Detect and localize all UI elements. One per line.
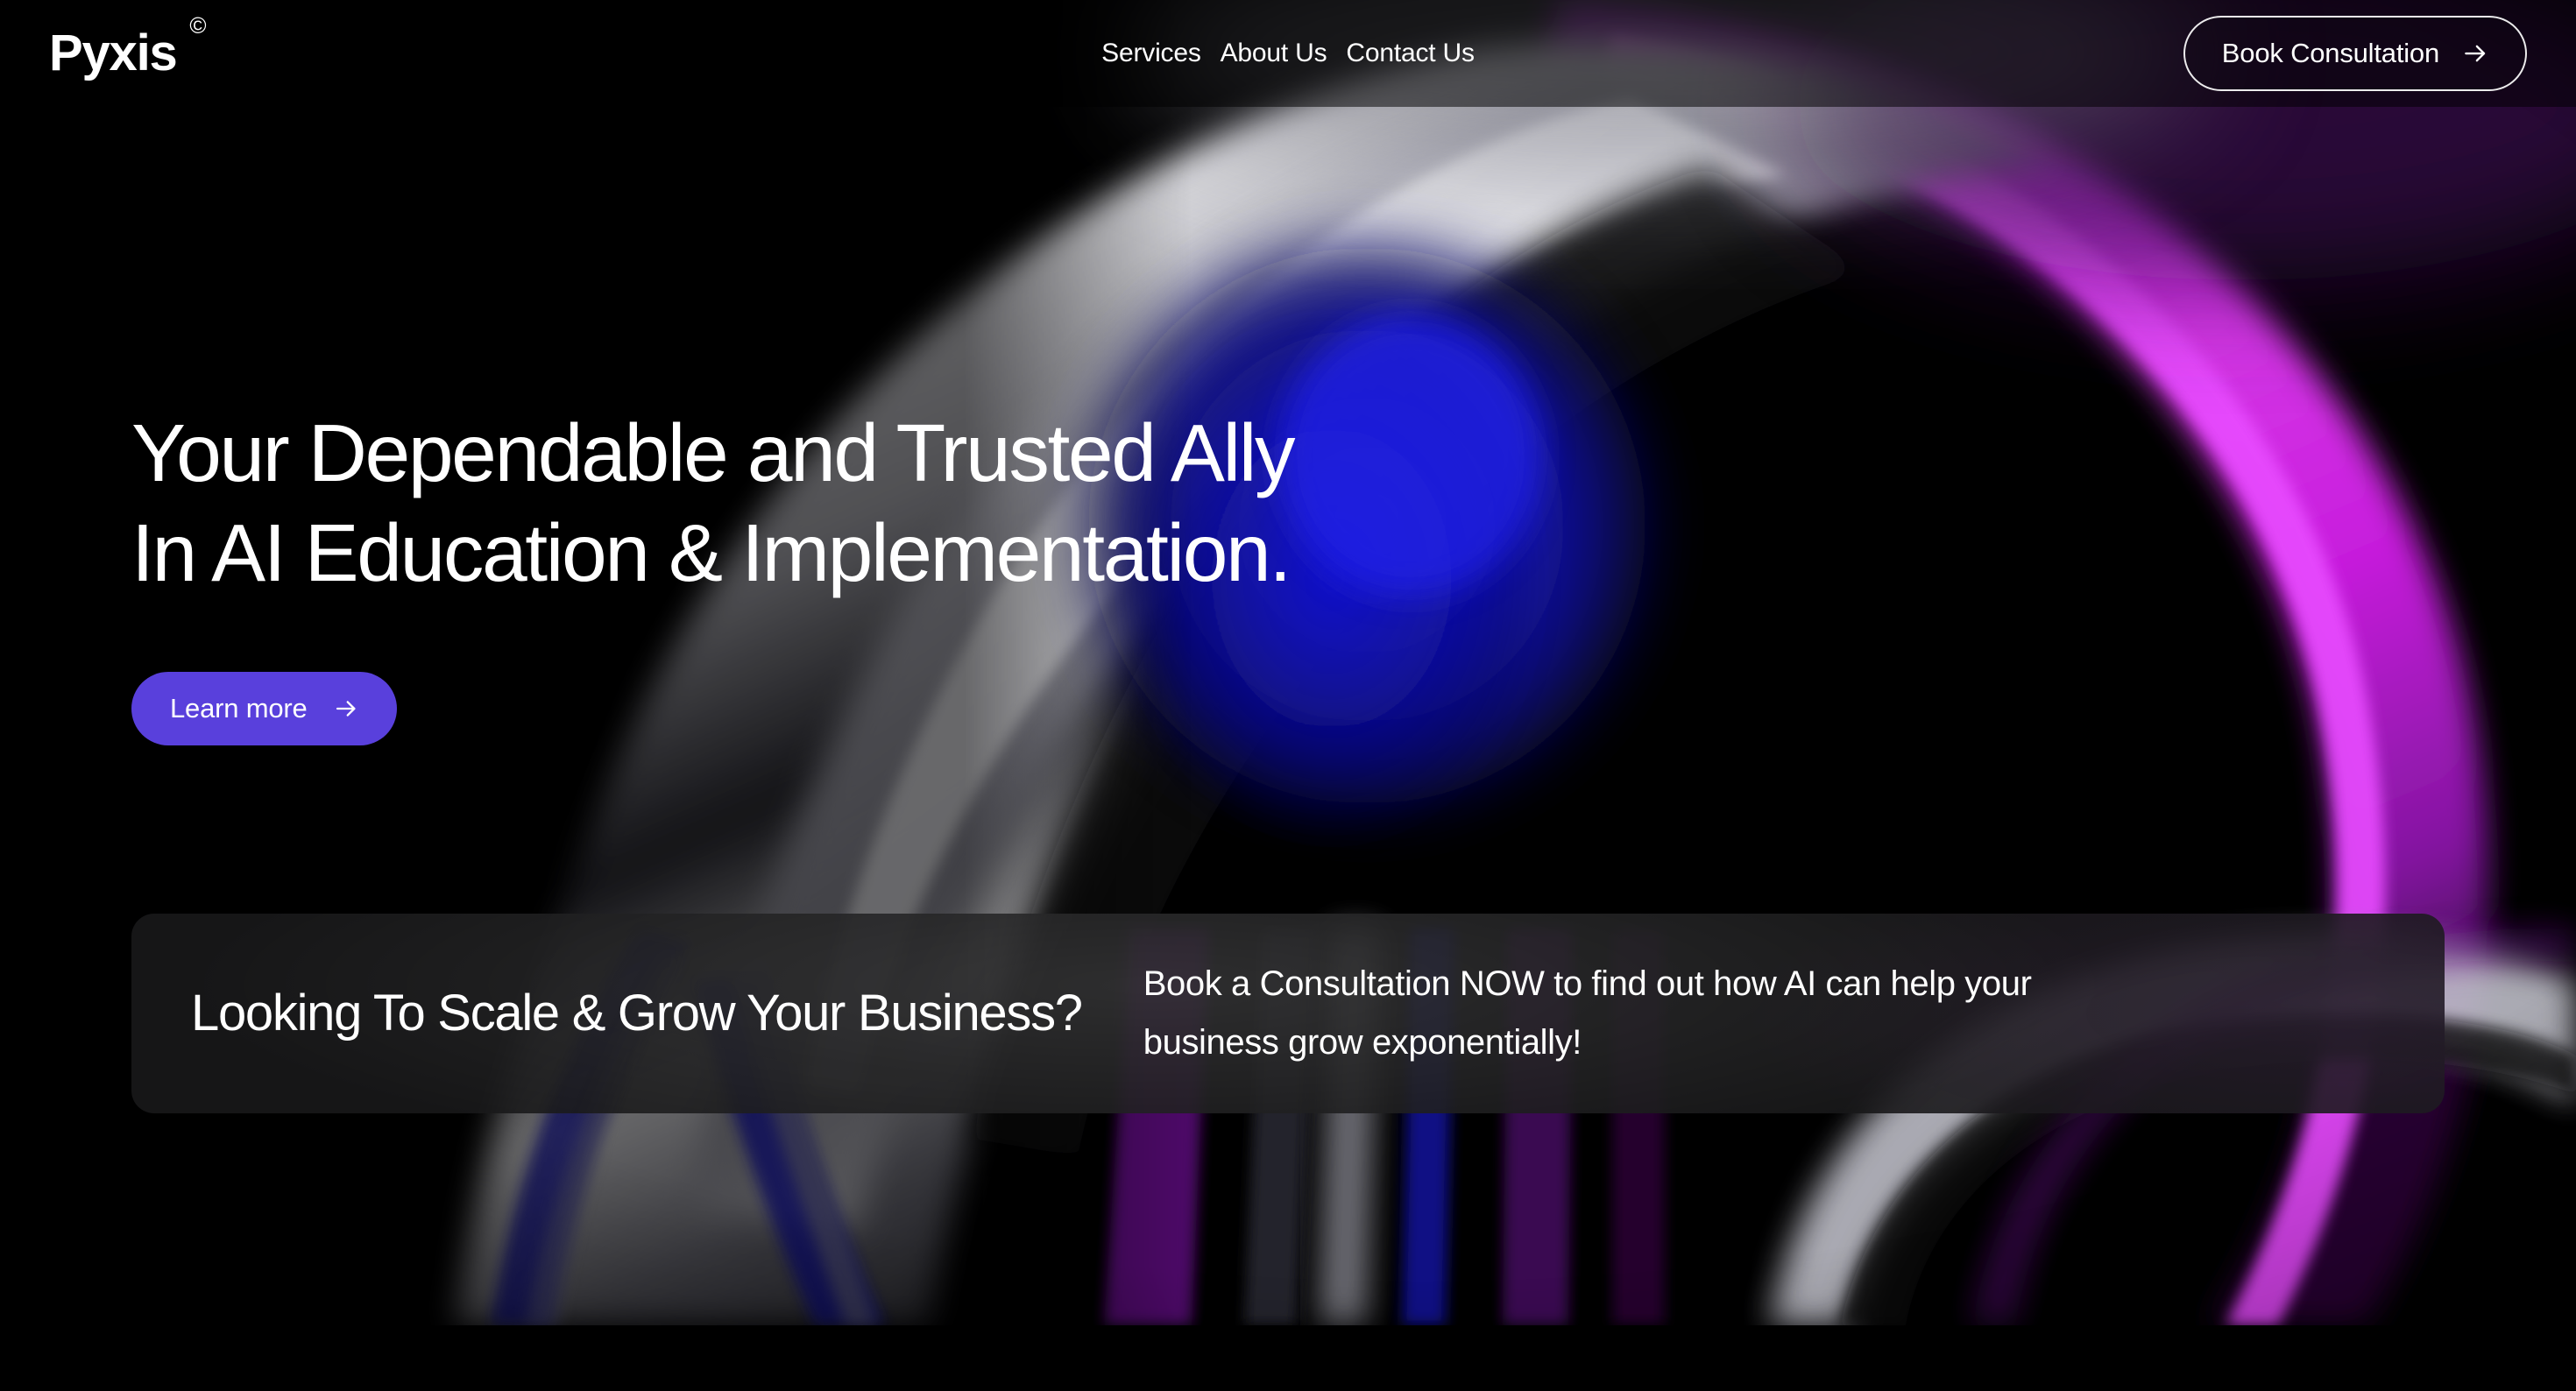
book-consultation-label: Book Consultation [2222, 38, 2439, 69]
arrow-right-icon [334, 696, 358, 721]
arrow-right-icon [2462, 40, 2488, 67]
cta-card: Looking To Scale & Grow Your Business? B… [131, 914, 2445, 1113]
copyright-icon: © [189, 14, 206, 37]
learn-more-label: Learn more [170, 693, 308, 724]
page-title: Your Dependable and Trusted Ally In AI E… [131, 403, 1293, 604]
cta-card-question: Looking To Scale & Grow Your Business? [131, 985, 1124, 1043]
hero-content: Your Dependable and Trusted Ally In AI E… [131, 403, 1293, 745]
nav-item-about-us[interactable]: About Us [1221, 40, 1327, 67]
cta-card-description: Book a Consultation NOW to find out how … [1124, 955, 2158, 1072]
learn-more-button[interactable]: Learn more [131, 672, 397, 745]
nav-item-contact-us[interactable]: Contact Us [1346, 40, 1474, 67]
nav-item-services[interactable]: Services [1101, 40, 1200, 67]
brand-logo[interactable]: Pyxis© [49, 28, 177, 79]
headline-line-1: Your Dependable and Trusted Ally [131, 403, 1293, 503]
brand-name: Pyxis [49, 25, 177, 81]
main-navigation: Services About Us Contact Us [1101, 40, 1475, 67]
bottom-black-band [0, 1325, 2576, 1391]
site-header: Pyxis© Services About Us Contact Us Book… [0, 0, 2576, 107]
hero-page: Pyxis© Services About Us Contact Us Book… [0, 0, 2576, 1391]
headline-line-2: In AI Education & Implementation. [131, 503, 1293, 603]
book-consultation-button[interactable]: Book Consultation [2183, 16, 2527, 91]
